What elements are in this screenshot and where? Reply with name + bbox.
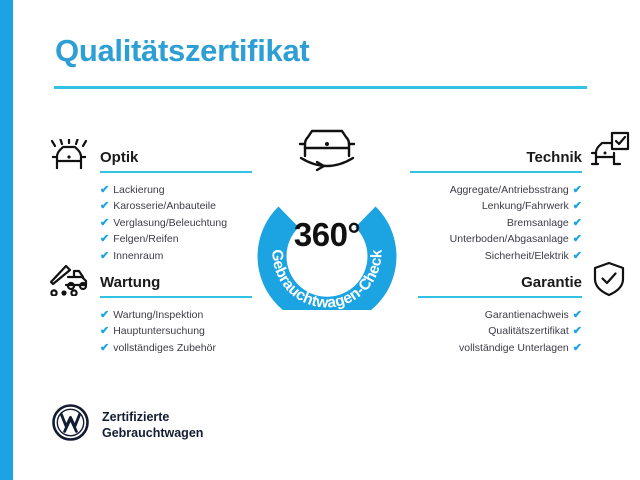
list-item-label: Bremsanlage	[507, 217, 569, 229]
badge-360-check: Gebrauchtwagen-Check 360°	[244, 118, 410, 310]
list-item-label: Verglasung/Beleuchtung	[113, 217, 227, 229]
list-item: ✔Karosserie/Anbauteile	[100, 198, 252, 214]
list-item-label: Karosserie/Anbauteile	[113, 200, 216, 212]
check-icon: ✔	[573, 325, 582, 337]
list-item: Bremsanlage✔	[410, 215, 582, 231]
section-title-garantie: Garantie	[521, 274, 582, 291]
vw-logo-icon	[52, 404, 89, 446]
section-technik: Technik Aggregate/Antriebsstrang✔ Lenkun…	[410, 143, 582, 264]
section-optik: Optik ✔Lackierung ✔Karosserie/Anbauteile…	[100, 143, 252, 264]
list-item: ✔vollständiges Zubehör	[100, 340, 252, 356]
check-icon: ✔	[573, 233, 582, 245]
list-item-label: Unterboden/Abgasanlage	[450, 233, 569, 245]
list-item-label: Lenkung/Fahrwerk	[482, 200, 569, 212]
check-icon: ✔	[573, 309, 582, 321]
list-item-label: Wartung/Inspektion	[113, 309, 203, 321]
footer-line-1: Zertifizierte	[102, 410, 169, 424]
check-icon: ✔	[573, 184, 582, 196]
section-title-wartung: Wartung	[100, 274, 160, 291]
list-item: ✔Wartung/Inspektion	[100, 307, 252, 323]
certificate-page: Qualitätszertifikat Optik ✔Lackierung ✔K…	[0, 0, 640, 480]
section-title-technik: Technik	[526, 149, 582, 166]
list-item-label: Garantienachweis	[485, 309, 569, 321]
check-icon: ✔	[100, 233, 109, 245]
section-divider-wartung	[100, 296, 252, 298]
check-icon: ✔	[100, 217, 109, 229]
list-item: Garantienachweis✔	[418, 307, 582, 323]
list-item-label: vollständiges Zubehör	[113, 342, 216, 354]
check-icon: ✔	[100, 200, 109, 212]
list-item: ✔Hauptuntersuchung	[100, 323, 252, 339]
section-garantie: Garantie Garantienachweis✔ Qualitätszert…	[418, 268, 582, 356]
checklist-optik: ✔Lackierung ✔Karosserie/Anbauteile ✔Verg…	[100, 182, 252, 264]
check-icon: ✔	[573, 217, 582, 229]
list-item: ✔Verglasung/Beleuchtung	[100, 215, 252, 231]
car-lift-icon	[48, 262, 90, 301]
list-item-label: Felgen/Reifen	[113, 233, 178, 245]
check-icon: ✔	[573, 200, 582, 212]
section-divider-optik	[100, 171, 252, 173]
page-title: Qualitätszertifikat	[55, 33, 309, 69]
list-item-label: vollständige Unterlagen	[459, 342, 569, 354]
list-item-label: Innenraum	[113, 250, 163, 262]
check-icon: ✔	[573, 342, 582, 354]
check-icon: ✔	[100, 342, 109, 354]
list-item: Aggregate/Antriebsstrang✔	[410, 182, 582, 198]
checklist-wartung: ✔Wartung/Inspektion ✔Hauptuntersuchung ✔…	[100, 307, 252, 356]
check-icon: ✔	[100, 184, 109, 196]
shield-check-icon	[592, 261, 626, 302]
checklist-garantie: Garantienachweis✔ Qualitätszertifikat✔ v…	[418, 307, 582, 356]
checklist-technik: Aggregate/Antriebsstrang✔ Lenkung/Fahrwe…	[410, 182, 582, 264]
list-item-label: Qualitätszertifikat	[488, 325, 569, 337]
check-icon: ✔	[100, 309, 109, 321]
car-shine-icon	[48, 139, 90, 176]
car-checkbox-icon	[590, 131, 630, 172]
left-accent-bar	[0, 0, 13, 480]
section-divider-garantie	[418, 296, 582, 298]
list-item: vollständige Unterlagen✔	[418, 340, 582, 356]
check-icon: ✔	[573, 250, 582, 262]
list-item: ✔Lackierung	[100, 182, 252, 198]
list-item-label: Aggregate/Antriebsstrang	[450, 184, 569, 196]
section-wartung: Wartung ✔Wartung/Inspektion ✔Hauptunters…	[100, 268, 252, 356]
title-divider	[54, 86, 587, 89]
section-divider-technik	[410, 171, 582, 173]
list-item: Lenkung/Fahrwerk✔	[410, 198, 582, 214]
list-item: Sicherheit/Elektrik✔	[410, 248, 582, 264]
list-item-label: Lackierung	[113, 184, 164, 196]
list-item: ✔Innenraum	[100, 248, 252, 264]
list-item: Qualitätszertifikat✔	[418, 323, 582, 339]
footer-line-2: Gebrauchtwagen	[102, 426, 203, 440]
check-icon: ✔	[100, 325, 109, 337]
list-item-label: Sicherheit/Elektrik	[485, 250, 569, 262]
badge-degrees-label: 360°	[244, 216, 410, 254]
section-title-optik: Optik	[100, 149, 138, 166]
list-item-label: Hauptuntersuchung	[113, 325, 205, 337]
check-icon: ✔	[100, 250, 109, 262]
footer-brand-text: Zertifizierte Gebrauchtwagen	[102, 409, 203, 441]
list-item: Unterboden/Abgasanlage✔	[410, 231, 582, 247]
list-item: ✔Felgen/Reifen	[100, 231, 252, 247]
footer-brand: Zertifizierte Gebrauchtwagen	[52, 404, 203, 446]
